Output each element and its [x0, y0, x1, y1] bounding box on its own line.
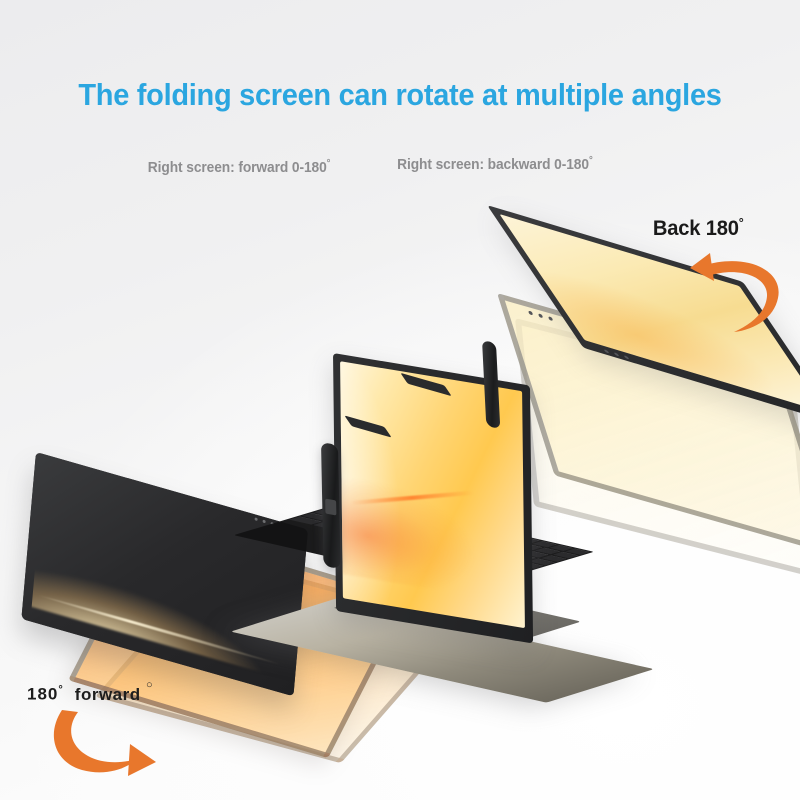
degree-icon: ° — [589, 155, 593, 166]
left-hinge — [321, 442, 340, 569]
left-screen-panel — [21, 452, 308, 696]
degree-icon: ° — [327, 158, 331, 169]
laptop-screen-panel — [333, 353, 533, 644]
rotate-forward-arrow-icon — [38, 700, 164, 786]
page-title: The folding screen can rotate at multipl… — [20, 78, 780, 113]
rotate-backward-arrow-icon — [672, 250, 790, 342]
degree-icon: ° — [58, 684, 63, 696]
forward-angle-marker: ○ — [146, 679, 153, 691]
caption-backward-text: Right screen: backward 0-180 — [397, 157, 589, 173]
back-angle-text: Back 180 — [653, 217, 739, 240]
caption-forward-text: Right screen: forward 0-180 — [148, 160, 327, 176]
product-promo-image: The folding screen can rotate at multipl… — [0, 0, 800, 800]
caption-forward: Right screen: forward 0-180° — [148, 158, 331, 176]
hinge-nub — [325, 499, 336, 516]
right-ghost-sensor-icon — [528, 310, 553, 321]
degree-icon: ° — [739, 215, 744, 230]
caption-backward: Right screen: backward 0-180° — [397, 155, 593, 173]
back-angle-label: Back 180° — [653, 215, 744, 241]
